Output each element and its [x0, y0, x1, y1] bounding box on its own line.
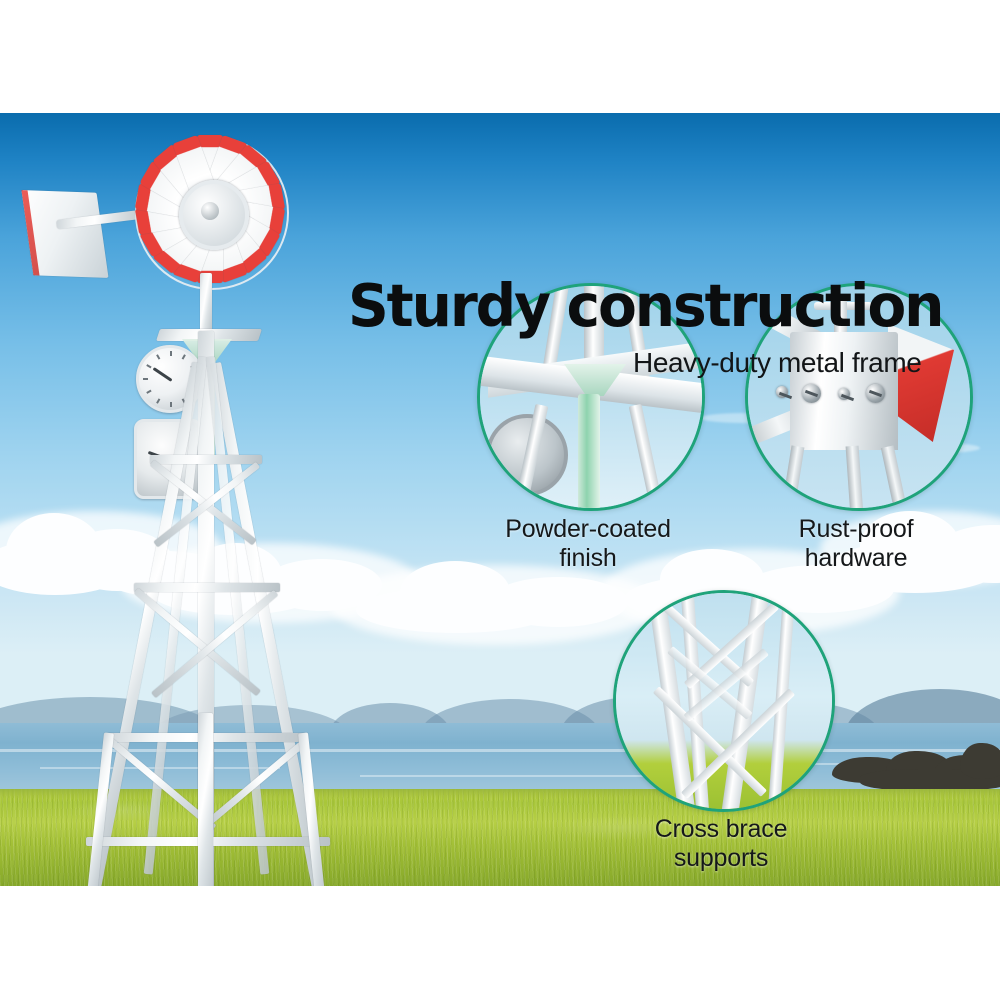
bolt-icon: [866, 384, 885, 403]
windmill-wheel: [130, 131, 290, 291]
callout-1-caption-line1: Powder-coated: [478, 515, 698, 544]
garden-windmill: [30, 113, 370, 886]
callout-1-caption: Powder-coated finish: [478, 515, 698, 572]
bolt-icon: [838, 388, 850, 400]
bolt-icon: [802, 384, 821, 403]
page-title: Sturdy construction: [348, 271, 942, 340]
callout-cross-brace-supports[interactable]: [613, 590, 835, 812]
scene-photo: Powder-coated finish R: [0, 113, 1000, 886]
bolt-icon: [776, 386, 788, 398]
callout-2-caption: Rust-proof hardware: [746, 515, 966, 572]
wheel-hub-cap: [201, 202, 219, 220]
tower-hbar-1: [150, 455, 262, 464]
tower-hbar-2: [134, 583, 280, 592]
product-marketing-image: Powder-coated finish R: [0, 0, 1000, 1000]
callout-3-caption: Cross brace supports: [610, 815, 832, 872]
tower-base-center-post: [198, 713, 213, 886]
callout-3-caption-line1: Cross brace: [610, 815, 832, 844]
page-subtitle: Heavy-duty metal frame: [633, 347, 921, 379]
callout-2-caption-line1: Rust-proof: [746, 515, 966, 544]
callout-3-image: [616, 593, 832, 809]
callout-1-caption-line2: finish: [478, 544, 698, 573]
callout-2-caption-line2: hardware: [746, 544, 966, 573]
callout-3-caption-line2: supports: [610, 844, 832, 873]
tail-vane: [21, 190, 108, 278]
rain-gauge-tube-closeup: [578, 394, 600, 511]
mast-head: [200, 273, 212, 335]
